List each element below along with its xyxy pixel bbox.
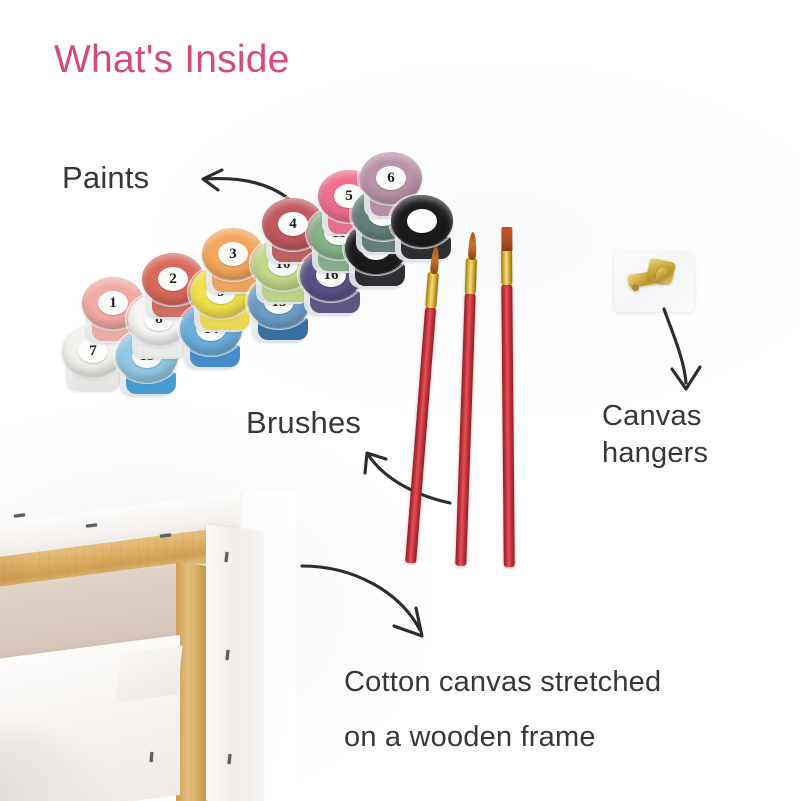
label-cotton-canvas-line2: on a wooden frame [344,710,774,765]
label-canvas-hangers-line2: hangers [602,435,762,472]
label-canvas-hangers-line1: Canvas [602,398,762,435]
stretched-canvas-photo [0,492,296,801]
label-cotton-canvas-line1: Cotton canvas stretched [344,655,774,710]
brush-ferrule [501,249,512,285]
paint-pot-unlabeled [391,195,453,257]
pot-number-label: 3 [218,242,248,266]
pot-number-label [407,209,437,233]
label-canvas-hangers: Canvas hangers [602,398,762,472]
pot-number-label: 1 [98,291,128,315]
brush-ferrule [465,258,477,294]
label-cotton-canvas: Cotton canvas stretched on a wooden fram… [344,655,774,765]
pot-lid [391,195,453,247]
pot-number-label: 6 [376,166,406,190]
whats-inside-infographic: What's Inside 71138214931510416115126 [0,0,800,801]
pot-number-label: 2 [158,267,188,291]
wooden-side-bar [176,562,208,801]
label-brushes: Brushes [246,404,361,442]
canvas-right-fade [232,492,296,801]
pot-number-label: 4 [278,212,308,236]
hanger-hook [655,268,670,285]
canvas-corner-fold [115,646,182,703]
staple [14,513,25,517]
hanger-screw-hole [632,284,639,291]
label-paints: Paints [62,159,149,197]
brush-tip-flat [501,227,512,251]
